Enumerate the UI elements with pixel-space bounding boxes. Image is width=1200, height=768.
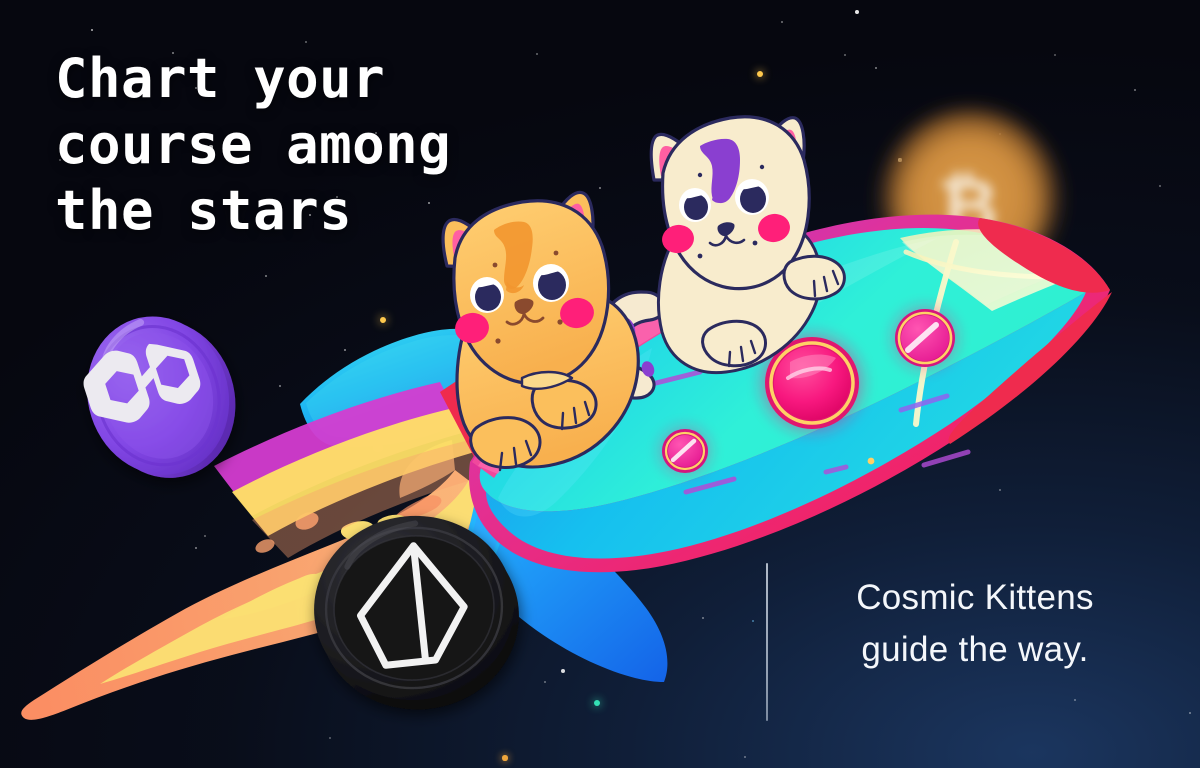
hero-banner: ₿ bbox=[0, 0, 1200, 768]
cream-kitten-eye-right bbox=[735, 179, 769, 215]
rocket-porthole-mid-left bbox=[659, 426, 711, 476]
orange-kitten-eye-left bbox=[470, 277, 504, 313]
hero-caption: Cosmic Kittens guide the way. bbox=[795, 572, 1155, 676]
orange-kitten-eye-right bbox=[533, 264, 569, 302]
cream-kitten-eye-left bbox=[679, 188, 711, 222]
rocket-porthole-upper-right bbox=[892, 306, 958, 370]
page-title: Chart your course among the stars bbox=[55, 46, 675, 244]
caption-divider bbox=[766, 563, 768, 721]
